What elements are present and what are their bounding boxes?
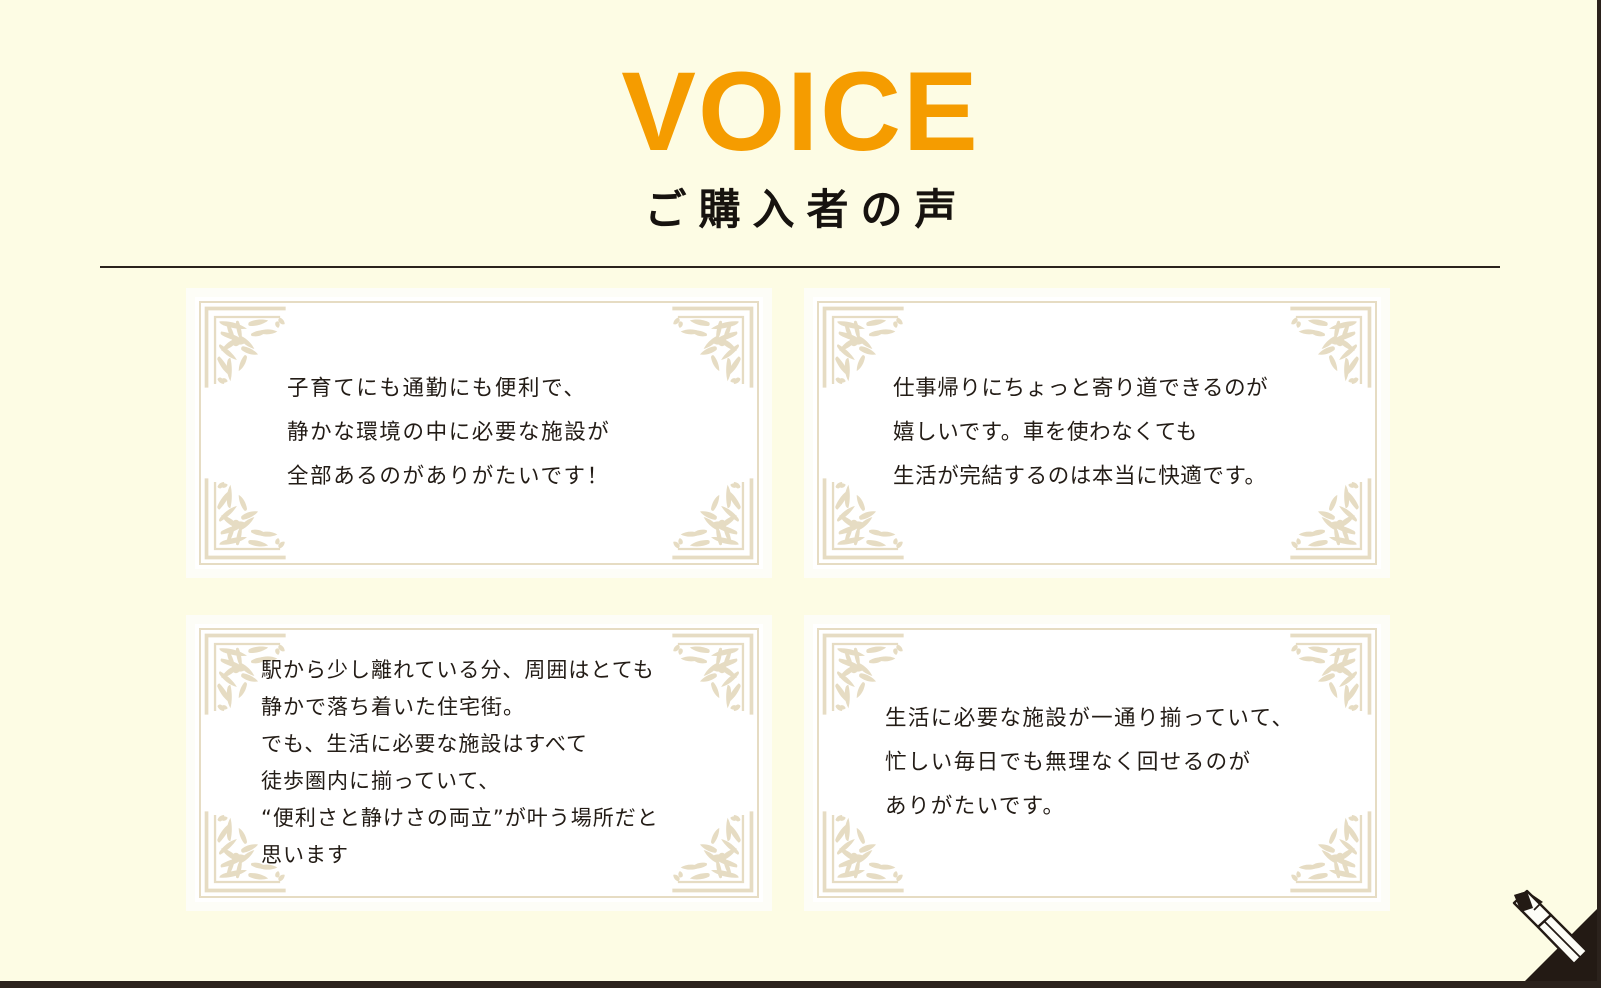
testimonial-card-inner: 子育てにも通勤にも便利で、 静かな環境の中に必要な施設が 全部あるのがありがたい…: [195, 297, 763, 569]
page-subtitle: ご購入者の声: [0, 168, 1601, 234]
testimonial-card[interactable]: 子育てにも通勤にも便利で、 静かな環境の中に必要な施設が 全部あるのがありがたい…: [186, 288, 772, 578]
testimonial-text: 駅から少し離れている分、周囲はとても 静かで落ち着いた住宅街。 でも、生活に必要…: [195, 652, 705, 874]
testimonial-card-inner: 生活に必要な施設が一通り揃っていて、 忙しい毎日でも無理なく回せるのが ありがた…: [813, 624, 1381, 902]
testimonial-card[interactable]: 生活に必要な施設が一通り揃っていて、 忙しい毎日でも無理なく回せるのが ありがた…: [804, 615, 1390, 911]
page-header: VOICE ご購入者の声: [0, 0, 1601, 234]
floral-corner-ornament-icon: [665, 303, 757, 395]
testimonial-text: 生活に必要な施設が一通り揃っていて、 忙しい毎日でも無理なく回せるのが ありがた…: [813, 697, 1340, 829]
pencil-icon[interactable]: [1481, 869, 1597, 981]
header-divider: [100, 266, 1500, 268]
testimonial-text: 子育てにも通勤にも便利で、 静かな環境の中に必要な施設が 全部あるのがありがたい…: [195, 367, 656, 499]
page-title: VOICE: [0, 0, 1601, 168]
testimonial-card[interactable]: 駅から少し離れている分、周囲はとても 静かで落ち着いた住宅街。 でも、生活に必要…: [186, 615, 772, 911]
testimonial-card-inner: 駅から少し離れている分、周囲はとても 静かで落ち着いた住宅街。 でも、生活に必要…: [195, 624, 763, 902]
testimonial-grid: 子育てにも通勤にも便利で、 静かな環境の中に必要な施設が 全部あるのがありがたい…: [186, 288, 1390, 911]
testimonial-card-inner: 仕事帰りにちょっと寄り道できるのが 嬉しいです。車を使わなくても 生活が完結する…: [813, 297, 1381, 569]
testimonial-text: 仕事帰りにちょっと寄り道できるのが 嬉しいです。車を使わなくても 生活が完結する…: [813, 367, 1314, 499]
testimonial-card[interactable]: 仕事帰りにちょっと寄り道できるのが 嬉しいです。車を使わなくても 生活が完結する…: [804, 288, 1390, 578]
floral-corner-ornament-icon: [665, 471, 757, 563]
